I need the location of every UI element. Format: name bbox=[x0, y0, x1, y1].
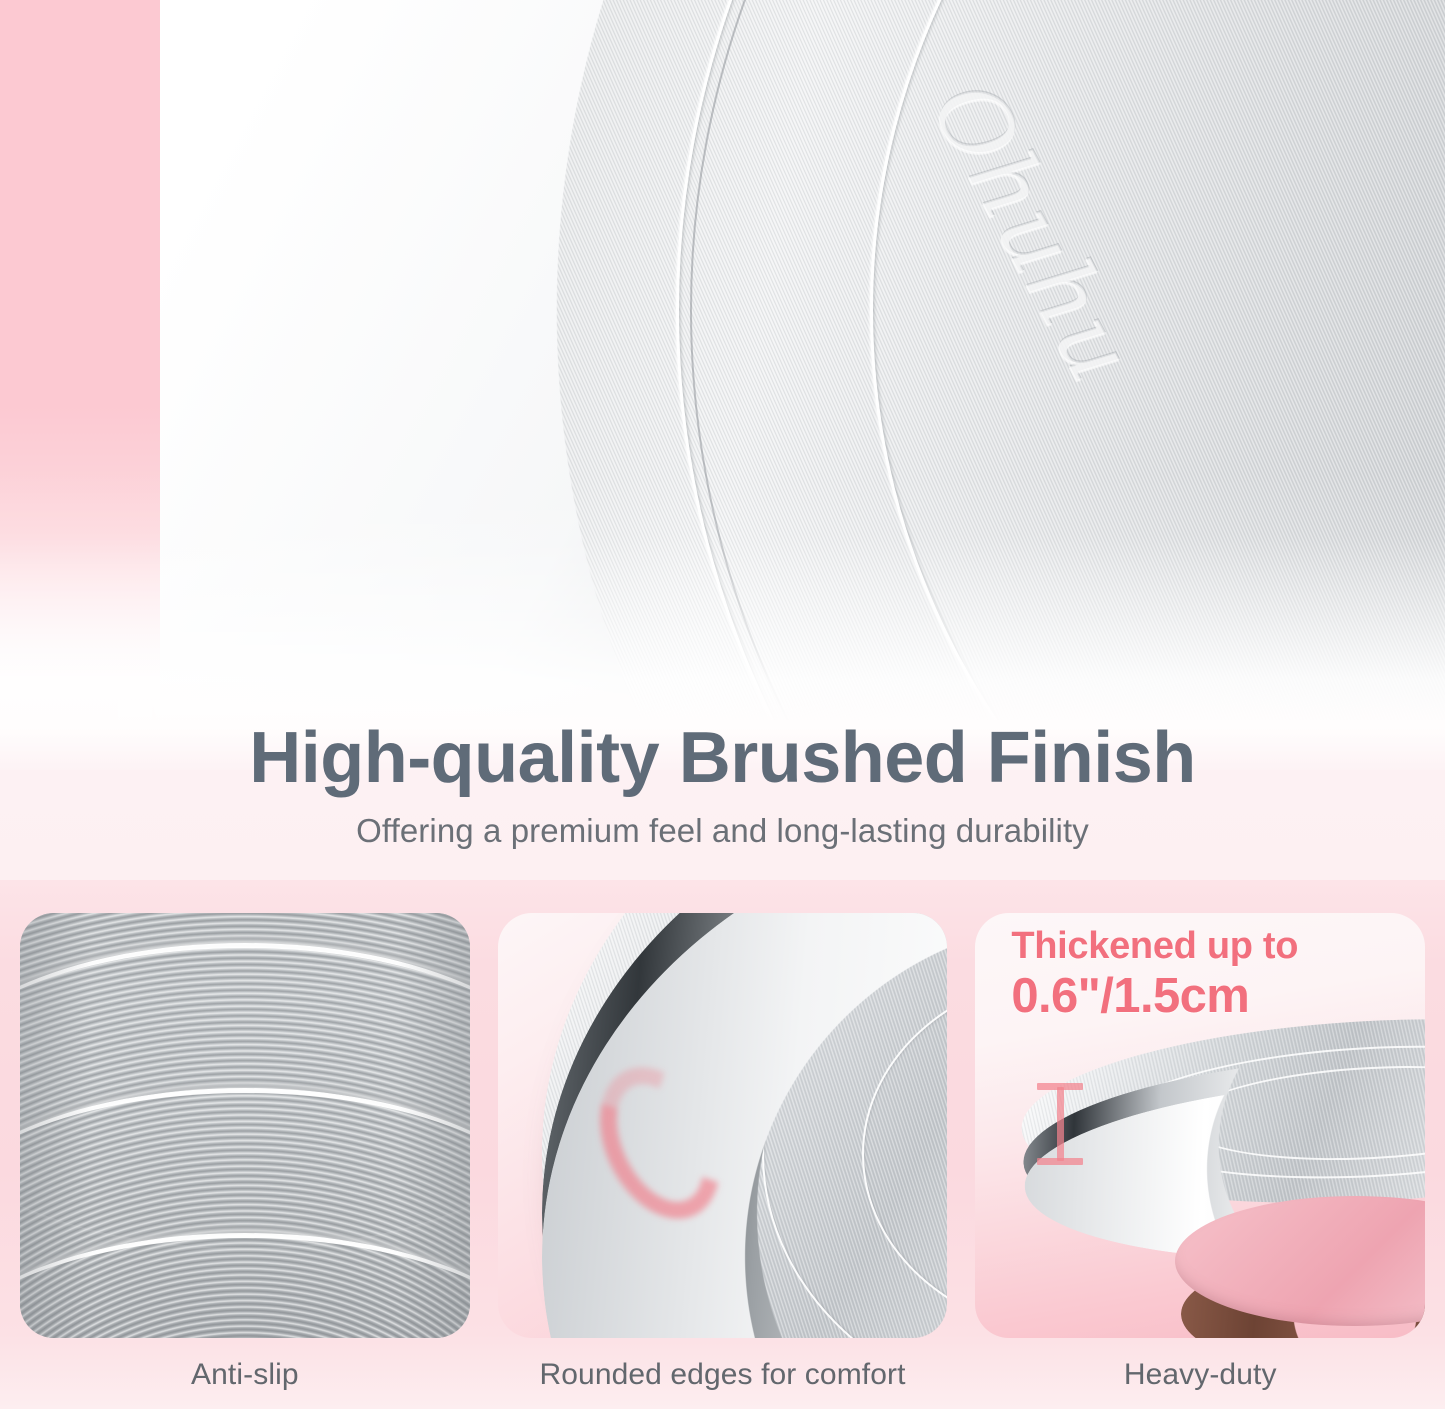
feature-panel-heavy-duty: Thickened up to 0.6"/1.5cm Ohu bbox=[975, 913, 1425, 1338]
caliper-bar bbox=[1057, 1087, 1064, 1161]
thickness-callout-line2: 0.6"/1.5cm bbox=[1011, 972, 1298, 1022]
caption-anti-slip: Anti-slip bbox=[20, 1358, 470, 1408]
caption-heavy-duty: Heavy-duty bbox=[975, 1358, 1425, 1408]
cake-below-turntable bbox=[1175, 1196, 1425, 1338]
hero-section: Ohuhu High-quality Brushed Finish Offeri… bbox=[0, 0, 1445, 900]
headline-block: High-quality Brushed Finish Offering a p… bbox=[0, 722, 1445, 850]
thickness-callout-line1: Thickened up to bbox=[1011, 927, 1298, 966]
feature-panels: Thickened up to 0.6"/1.5cm Ohu bbox=[20, 913, 1425, 1338]
product-feature-image: Ohuhu High-quality Brushed Finish Offeri… bbox=[0, 0, 1445, 1409]
thickness-callout: Thickened up to 0.6"/1.5cm bbox=[1011, 927, 1298, 1022]
caption-rounded-edges: Rounded edges for comfort bbox=[498, 1358, 948, 1408]
chrome-rim bbox=[100, 0, 1445, 720]
feature-panel-anti-slip bbox=[20, 913, 470, 1338]
turntable-macro-photo: Ohuhu bbox=[0, 0, 1445, 720]
page-subtitle: Offering a premium feel and long-lasting… bbox=[0, 813, 1445, 849]
caliper-cap-bottom bbox=[1037, 1158, 1083, 1165]
thickness-caliper-icon bbox=[1037, 1081, 1083, 1167]
feature-panel-rounded-edges bbox=[498, 913, 948, 1338]
page-title: High-quality Brushed Finish bbox=[0, 722, 1445, 795]
feature-strip: Thickened up to 0.6"/1.5cm Ohu bbox=[0, 880, 1445, 1409]
feature-captions: Anti-slip Rounded edges for comfort Heav… bbox=[20, 1358, 1425, 1408]
